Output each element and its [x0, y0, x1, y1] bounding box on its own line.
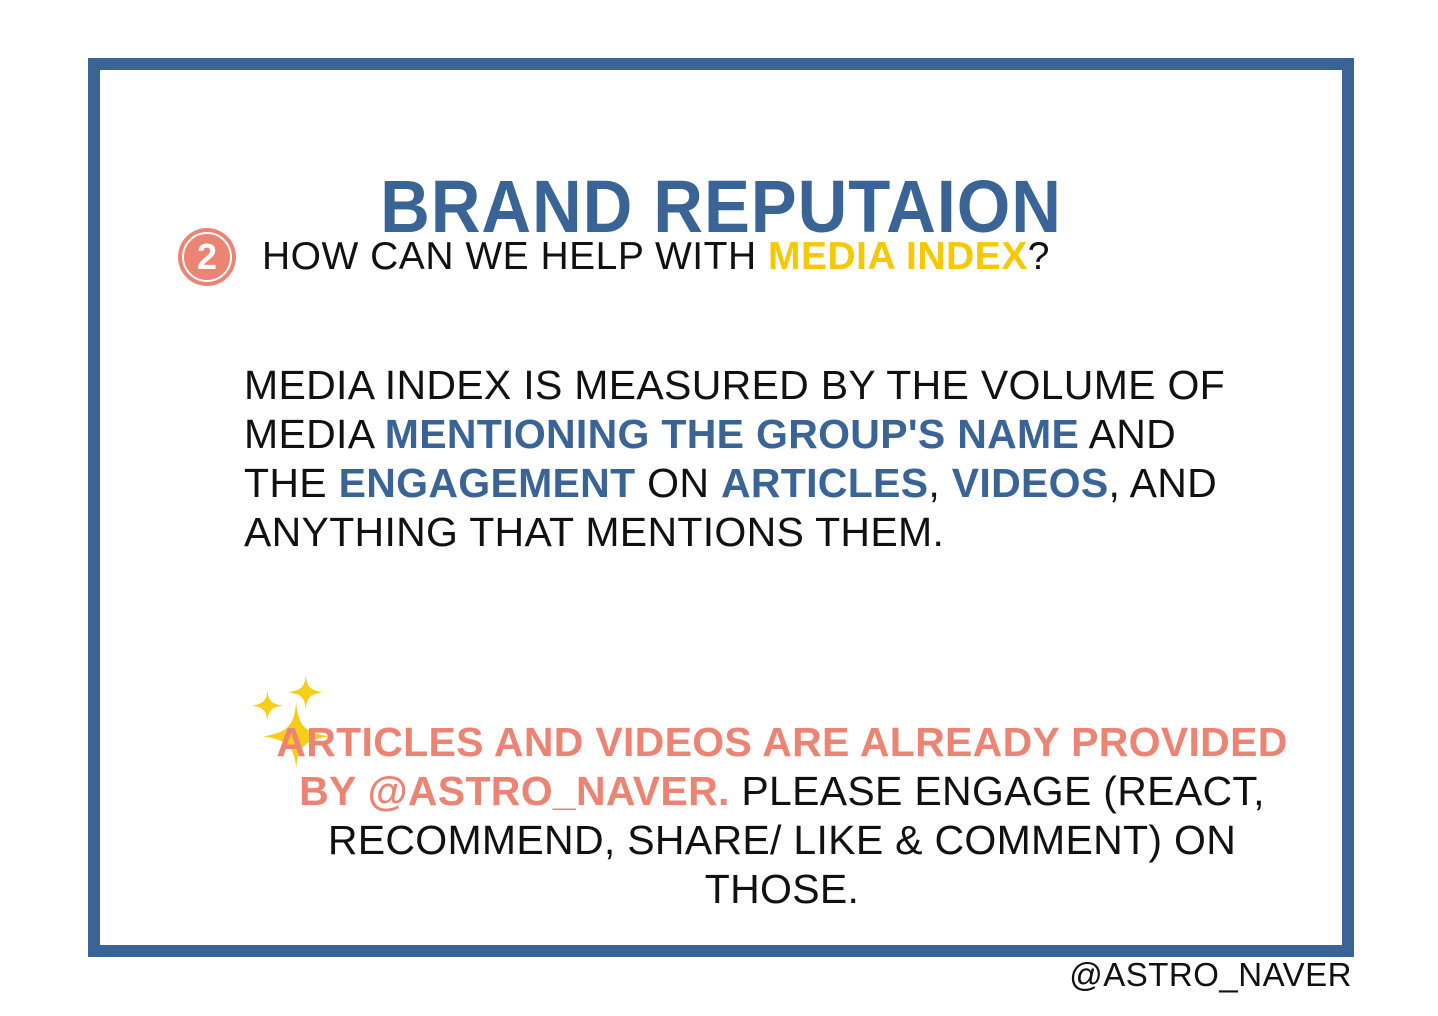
- footer-handle: @ASTRO_NAVER: [1069, 956, 1352, 994]
- body-segment-6: ,: [928, 460, 951, 506]
- question-prefix-text: HOW CAN WE HELP WITH: [262, 235, 768, 278]
- badge-number-label: 2: [197, 239, 217, 275]
- question-row: 2 HOW CAN WE HELP WITH MEDIA INDEX?: [178, 228, 1050, 286]
- slide-canvas: BRAND REPUTAION 2 HOW CAN WE HELP WITH M…: [0, 0, 1438, 1016]
- callout-paragraph: ARTICLES AND VIDEOS ARE ALREADY PROVIDED…: [264, 636, 1300, 914]
- body-segment-3: ENGAGEMENT: [339, 460, 636, 506]
- callout-block: ARTICLES AND VIDEOS ARE ALREADY PROVIDED…: [160, 595, 1300, 955]
- question-heading: HOW CAN WE HELP WITH MEDIA INDEX?: [262, 236, 1050, 279]
- body-segment-5: ARTICLES: [721, 460, 928, 506]
- numbered-circle-badge: 2: [178, 228, 236, 286]
- body-segment-7: VIDEOS: [952, 460, 1109, 506]
- question-highlight-text: MEDIA INDEX: [768, 235, 1028, 278]
- body-paragraph: MEDIA INDEX IS MEASURED BY THE VOLUME OF…: [244, 361, 1234, 557]
- question-suffix-text: ?: [1028, 235, 1050, 278]
- slide-frame-border: BRAND REPUTAION 2 HOW CAN WE HELP WITH M…: [88, 58, 1354, 957]
- body-segment-1: MENTIONING THE GROUP'S NAME: [385, 411, 1079, 457]
- body-segment-4: ON: [635, 460, 720, 506]
